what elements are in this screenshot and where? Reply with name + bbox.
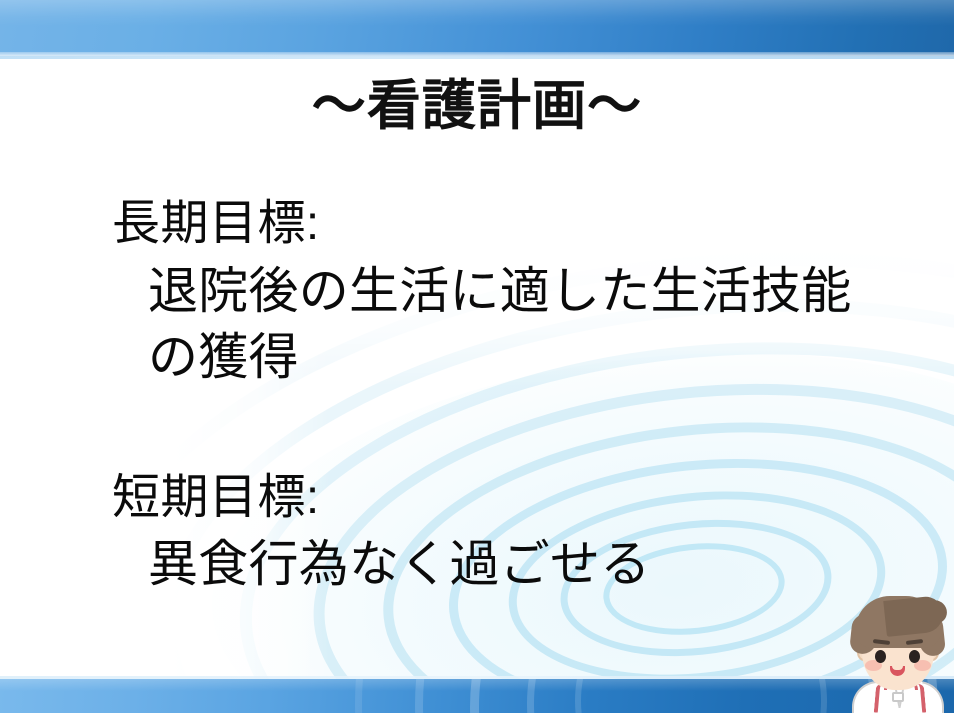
short-term-goal-label: 短期目標:: [112, 469, 954, 528]
slide-canvas: 〜看護計画〜 長期目標: 退院後の生活に適した生活技能 の獲得 短期目標: 異食…: [0, 0, 954, 713]
nurse-eye-left: [875, 650, 886, 663]
long-term-goal-lines: 退院後の生活に適した生活技能 の獲得: [148, 258, 954, 391]
top-banner-hairline: [0, 56, 954, 59]
goal-group-short-term: 短期目標: 異食行為なく過ごせる: [0, 469, 954, 598]
long-term-goal-label: 長期目標:: [112, 195, 954, 254]
nurse-eye-right: [909, 650, 920, 663]
top-banner: [0, 0, 954, 57]
page-title: 〜看護計画〜: [0, 77, 954, 135]
slide-body: 長期目標: 退院後の生活に適した生活技能 の獲得 短期目標: 異食行為なく過ごせ…: [0, 195, 954, 598]
nurse-character-icon: [845, 596, 951, 713]
long-term-goal-line-1: 退院後の生活に適した生活技能: [148, 258, 954, 325]
long-term-goal-line-2: の獲得: [148, 324, 954, 391]
goal-group-long-term: 長期目標: 退院後の生活に適した生活技能 の獲得: [0, 195, 954, 391]
nurse-badge: [892, 692, 904, 702]
bottom-banner: [0, 679, 954, 713]
bottom-banner-sheen: [0, 679, 954, 691]
short-term-goal-line-1: 異食行為なく過ごせる: [148, 531, 954, 598]
top-banner-sheen: [0, 0, 954, 26]
short-term-goal-lines: 異食行為なく過ごせる: [148, 531, 954, 598]
